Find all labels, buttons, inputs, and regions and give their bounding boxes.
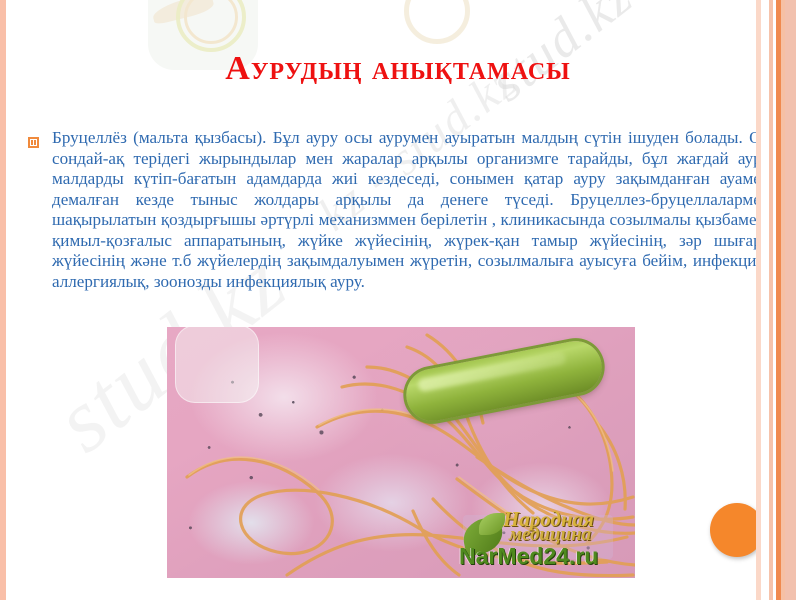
page-title: Аурудың анықтамасы	[0, 50, 796, 88]
micrograph-corner-overlay	[175, 327, 259, 403]
square-bullet-icon	[28, 137, 39, 148]
right-edge-stripes	[756, 0, 796, 600]
slide-canvas: stud.kz kz - stud.kz stud.kz stud.kz Аур…	[0, 0, 796, 600]
right-stripe-7	[785, 0, 796, 600]
body-paragraph: Бруцеллёз (мальта қызбасы). Бұл ауру осы…	[52, 128, 770, 292]
narmed-watermark-line3: NarMed24.ru	[459, 543, 598, 570]
body-bullet-block: Бруцеллёз (мальта қызбасы). Бұл ауру осы…	[28, 128, 770, 292]
narmed-watermark: Народная медицина NarMed24.ru	[459, 507, 627, 569]
right-stripe-2	[761, 0, 769, 600]
watermark-circle-icon	[404, 0, 470, 44]
bacteria-micrograph-image: Народная медицина NarMed24.ru	[167, 327, 635, 578]
left-edge-stripe	[0, 0, 6, 600]
